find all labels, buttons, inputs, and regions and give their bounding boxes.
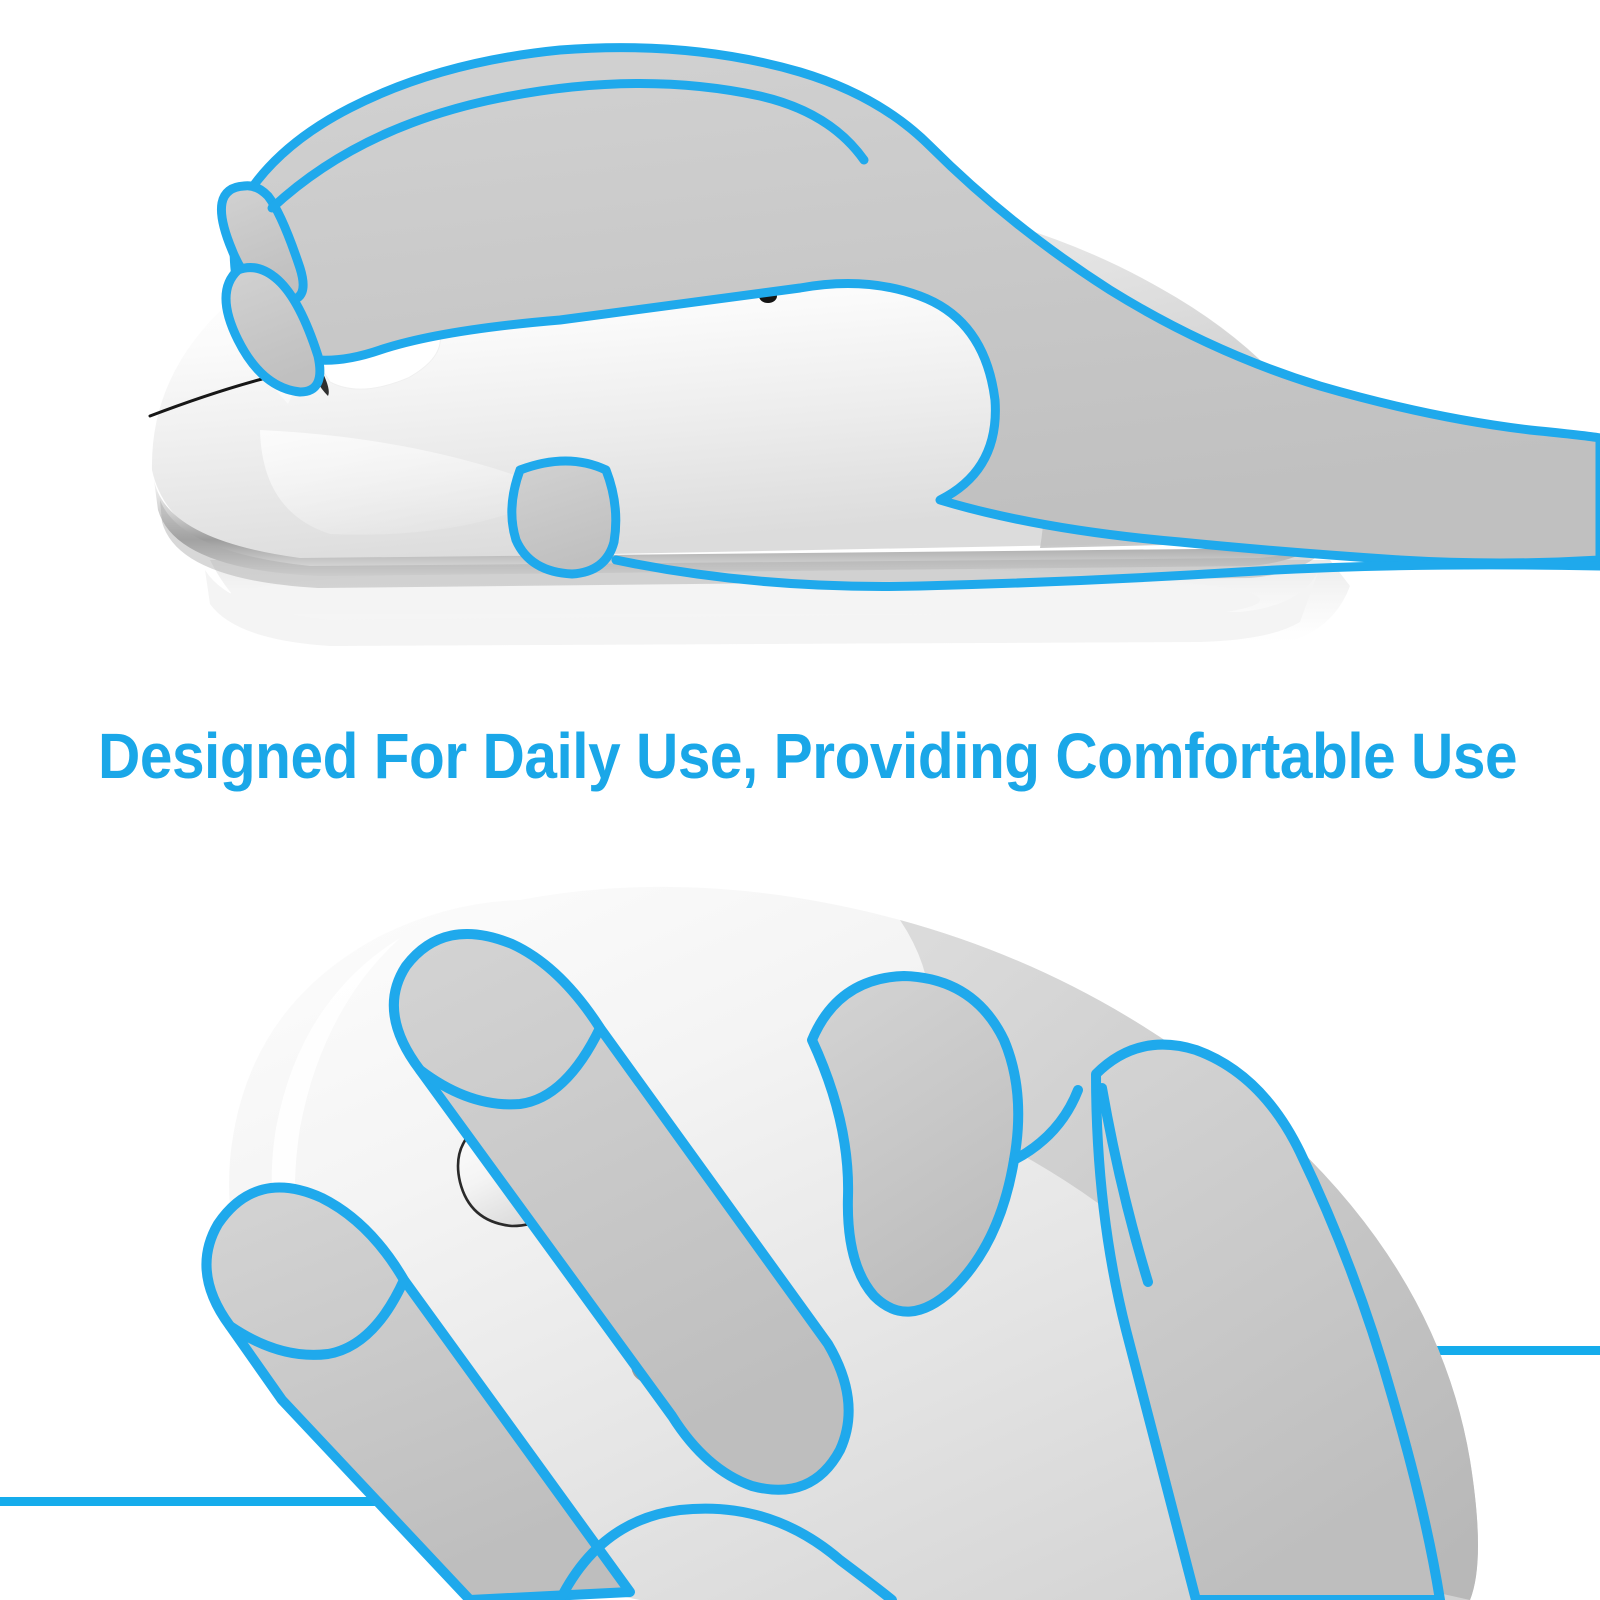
middle-finger-outline bbox=[512, 461, 616, 574]
bottom-illustration bbox=[0, 860, 1600, 1600]
panel-top-view-hand-on-mouse bbox=[0, 860, 1600, 1600]
panel-side-view-hand-on-mouse bbox=[0, 0, 1600, 680]
top-illustration bbox=[0, 0, 1600, 680]
infographic-canvas: Designed For Daily Use, Providing Comfor… bbox=[0, 0, 1600, 1600]
headline-text: Designed For Daily Use, Providing Comfor… bbox=[98, 718, 1397, 794]
